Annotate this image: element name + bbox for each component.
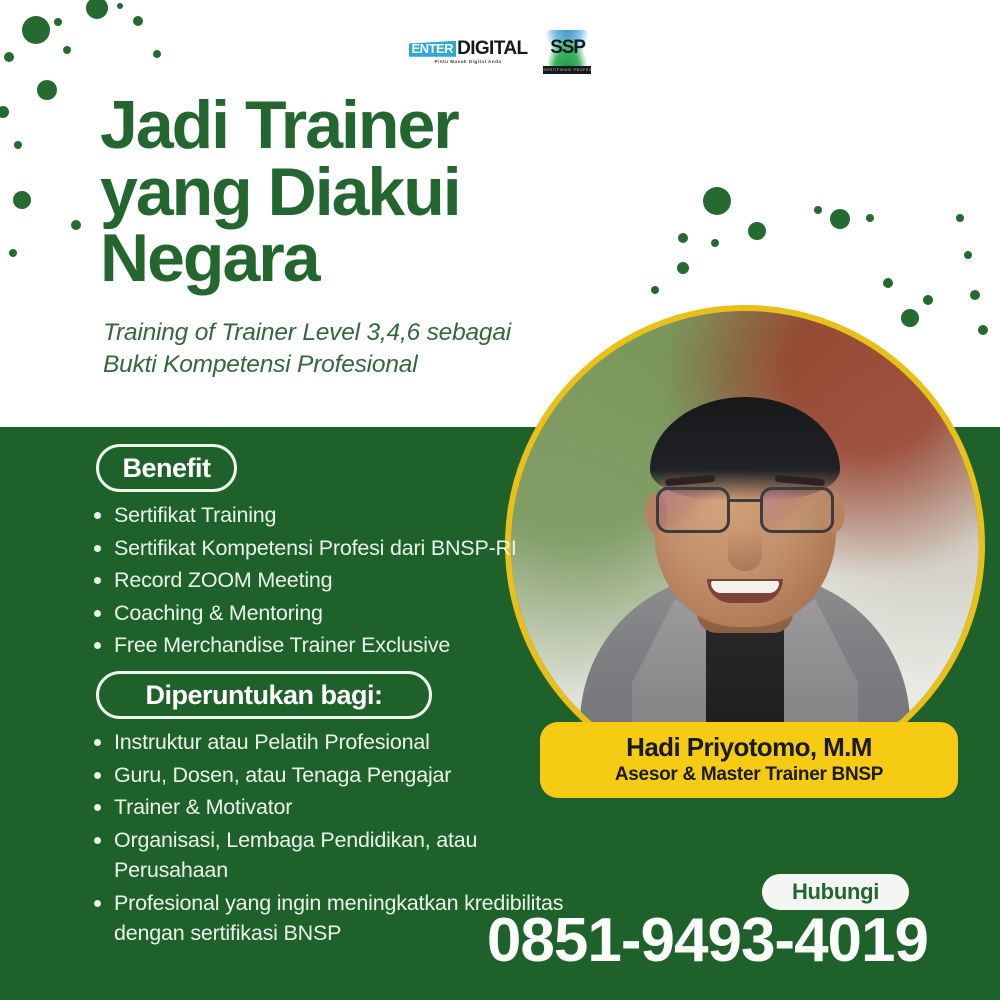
decorative-dot <box>117 3 123 9</box>
list-item: Sertifikat Training <box>88 500 518 531</box>
list-item: Coaching & Mentoring <box>88 598 518 629</box>
speaker-name-card: Hadi Priyotomo, M.M Asesor & Master Trai… <box>540 722 958 798</box>
decorative-dot <box>748 222 766 240</box>
decorative-dot <box>37 80 57 100</box>
speaker-name: Hadi Priyotomo, M.M <box>626 734 872 761</box>
speaker-role: Asesor & Master Trainer BNSP <box>615 764 883 786</box>
decorative-dot <box>830 209 850 229</box>
subtitle-line-1: Training of Trainer Level 3,4,6 sebagai <box>103 317 573 349</box>
decorative-dot <box>677 262 689 274</box>
decorative-dot <box>964 251 972 259</box>
enter-badge: ENTER <box>409 41 457 57</box>
decorative-dot <box>0 106 9 118</box>
photo-gold-ring: G-COAC <box>505 305 985 785</box>
decorative-dot <box>14 141 22 149</box>
photo-mouth <box>707 579 783 603</box>
enter-digital-wordmark: ENTER DIGITAL <box>409 39 528 58</box>
enter-digital-logo: ENTER DIGITAL Pintu Masuk Digital Anda <box>409 39 528 64</box>
headline-line-2: yang Diakui <box>100 159 640 226</box>
decorative-dot <box>13 191 31 209</box>
decorative-dot <box>703 187 731 215</box>
list-item: Organisasi, Lembaga Pendidikan, atau Per… <box>88 825 588 886</box>
photo-glasses <box>656 487 834 535</box>
subtitle: Training of Trainer Level 3,4,6 sebagai … <box>103 317 573 382</box>
list-item: Record ZOOM Meeting <box>88 565 518 596</box>
decorative-dot <box>711 239 719 247</box>
poster-canvas: ENTER DIGITAL Pintu Masuk Digital Anda S… <box>0 0 1000 1000</box>
list-item: Guru, Dosen, atau Tenaga Pengajar <box>88 760 588 791</box>
ssp-bar-text: SERTIFIKASI PROFESI <box>543 66 591 74</box>
ssp-logo: SSP SERTIFIKASI PROFESI <box>543 30 591 74</box>
glasses-lens-right <box>760 487 834 533</box>
decorative-dot <box>923 295 933 305</box>
decorative-dot <box>678 233 688 243</box>
decorative-dot <box>133 16 143 26</box>
benefit-pill: Benefit <box>96 444 237 492</box>
logo-row: ENTER DIGITAL Pintu Masuk Digital Anda S… <box>0 30 1000 74</box>
audience-pill: Diperuntukan bagi: <box>96 671 432 719</box>
decorative-dot <box>883 278 893 288</box>
page-title: Jadi Trainer yang Diakui Negara <box>100 92 640 292</box>
decorative-dot <box>970 290 980 300</box>
contact-phone-number[interactable]: 0851-9493-4019 <box>0 910 1000 972</box>
contact-cta-badge[interactable]: Hubungi <box>762 874 909 910</box>
list-item: Free Merchandise Trainer Exclusive <box>88 630 518 661</box>
decorative-dot <box>866 214 874 222</box>
decorative-dot <box>956 214 964 222</box>
speaker-photo: G-COAC <box>505 305 985 785</box>
decorative-dot <box>54 18 62 26</box>
enter-digital-tagline: Pintu Masuk Digital Anda <box>435 59 502 64</box>
subtitle-line-2: Bukti Kompetensi Profesional <box>103 349 573 381</box>
decorative-dot <box>814 206 822 214</box>
digital-word: DIGITAL <box>456 39 527 58</box>
photo-teeth <box>711 581 779 593</box>
glasses-bridge <box>730 499 760 502</box>
glasses-lens-left <box>656 487 730 533</box>
benefit-list: Sertifikat Training Sertifikat Kompetens… <box>88 500 518 663</box>
photo-nose <box>728 529 762 571</box>
decorative-dot <box>86 0 108 19</box>
photo-inner: G-COAC <box>511 311 979 779</box>
list-item: Instruktur atau Pelatih Profesional <box>88 727 588 758</box>
decorative-dot <box>651 286 659 294</box>
decorative-dot <box>71 220 81 230</box>
decorative-dot <box>9 249 17 257</box>
ssp-text: SSP <box>550 37 584 59</box>
list-item: Sertifikat Kompetensi Profesi dari BNSP-… <box>88 533 518 564</box>
headline-line-3: Negara <box>100 225 640 292</box>
list-item: Trainer & Motivator <box>88 792 588 823</box>
ssp-badge-circle: SSP <box>543 30 591 66</box>
headline-line-1: Jadi Trainer <box>100 92 640 159</box>
